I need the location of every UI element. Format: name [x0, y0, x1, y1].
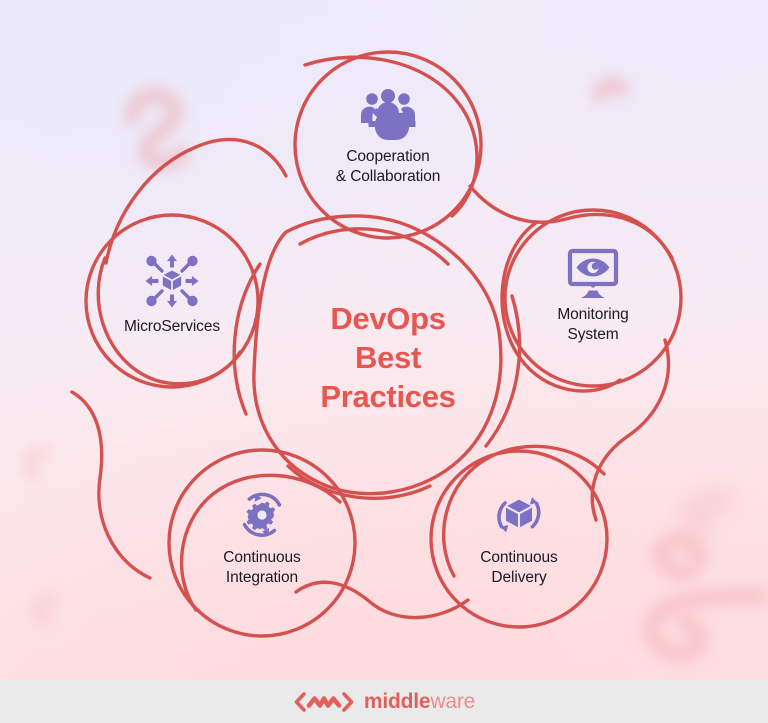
node-continuous-delivery[interactable]: Continuous Delivery — [424, 489, 614, 589]
infographic-canvas: Cooperation & Collaboration Monitoring S… — [0, 0, 768, 723]
middleware-logo-icon — [293, 690, 355, 714]
node-label-continuous-integration: Continuous Integration — [167, 548, 357, 589]
network-cube-icon — [77, 252, 267, 310]
ribbon-arc-top-left — [106, 140, 286, 263]
node-monitoring[interactable]: Monitoring System — [498, 248, 688, 346]
center-title: DevOps Best Practices — [263, 300, 513, 417]
node-label-cooperation: Cooperation & Collaboration — [293, 147, 483, 188]
brand-wordmark: middleware — [364, 690, 475, 714]
brand-wordmark-light: ware — [430, 690, 475, 713]
team-gear-icon — [293, 88, 483, 140]
node-continuous-integration[interactable]: Continuous Integration — [167, 489, 357, 589]
gear-refresh-icon — [167, 489, 357, 541]
brand-logo[interactable]: middleware — [293, 690, 475, 714]
node-label-microservices: MicroServices — [77, 317, 267, 337]
node-microservices[interactable]: MicroServices — [77, 252, 267, 337]
monitor-eye-icon — [498, 248, 688, 298]
node-label-continuous-delivery: Continuous Delivery — [424, 548, 614, 589]
footer-bar: middleware — [0, 680, 768, 723]
node-label-monitoring: Monitoring System — [498, 305, 688, 346]
cube-refresh-icon — [424, 489, 614, 541]
ribbon-arc-left-bottom — [72, 392, 150, 578]
node-cooperation[interactable]: Cooperation & Collaboration — [293, 88, 483, 188]
brand-wordmark-bold: middle — [364, 690, 430, 713]
